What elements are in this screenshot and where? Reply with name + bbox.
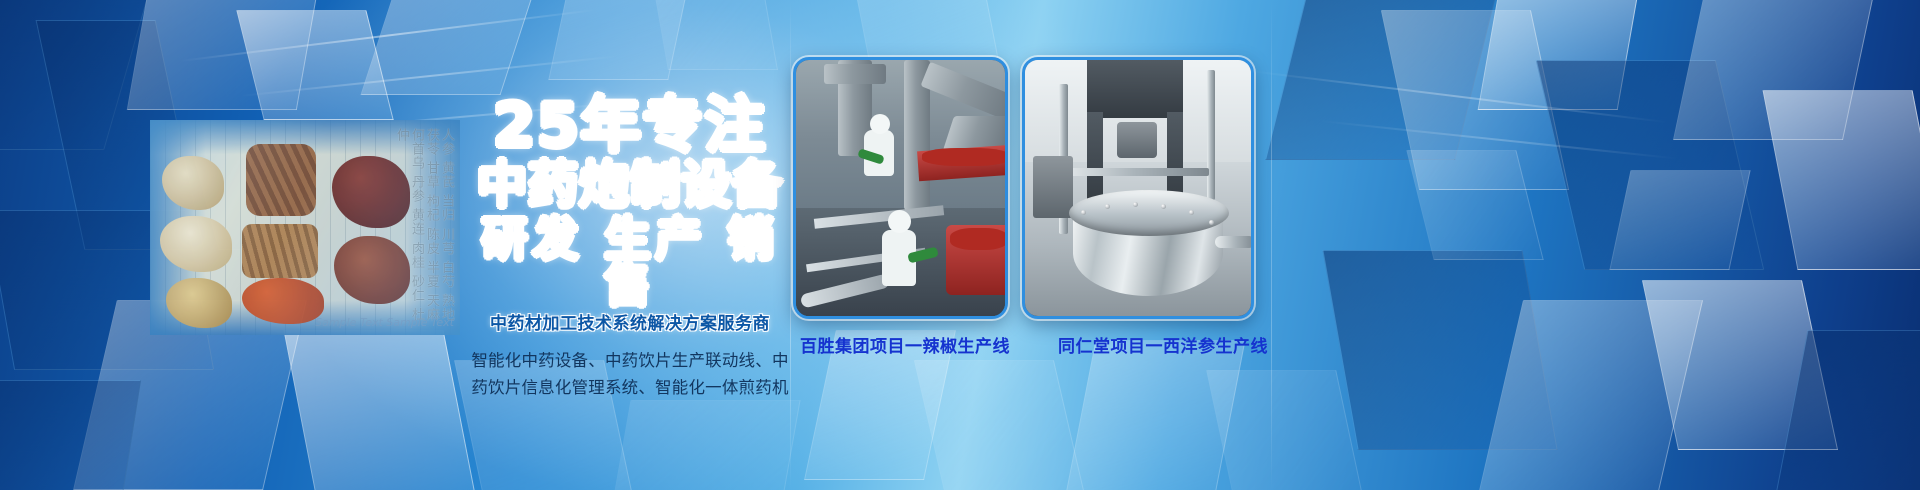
headline-line-3: 研发 生产 销售 [470,216,790,308]
chili-line-image [796,60,1005,316]
headline-line-1: 25年专注 [470,96,790,156]
chili-pile-1 [922,148,1008,166]
overhead-frame [1087,60,1183,118]
headline-description: 智能化中药设备、中药饮片生产联动线、中药饮片信息化管理系统、智能化一体煎药机 [470,347,790,401]
caption-chili-line: 百胜集团项目一辣椒生产线 [800,332,1010,357]
tank-lid [1069,190,1229,236]
chili-pile-2 [950,228,1008,250]
cross-pipe [1059,168,1209,176]
blue-overlay-veil [150,120,460,335]
hood-duct [824,64,886,84]
valve-block [1117,122,1157,158]
herb-collage-image: 人参 黄芪 当归 川芎 白芍 熟地 茯苓 甘草 枸杞 陈皮 半夏 天麻 何首乌 … [150,120,460,335]
caption-ginseng-line: 同仁堂项目一西洋参生产线 [1058,332,1268,357]
photo-chili-production-line [793,57,1008,319]
worker-2-head [888,210,911,233]
control-panel [1033,156,1073,218]
sample-watermark-text: Sample Text Sample Text [315,316,454,329]
promo-banner: 人参 黄芪 当归 川芎 白芍 熟地 茯苓 甘草 枸杞 陈皮 半夏 天麻 何首乌 … [0,0,1920,490]
upper-conveyor [920,62,1008,121]
headline-subtitle: 中药材加工技术系统解决方案服务商 [470,316,790,333]
headline-block: 25年专注 中药炮制设备 研发 生产 销售 中药材加工技术系统解决方案服务商 智… [470,96,790,401]
headline-line-2: 中药炮制设备 [470,160,790,210]
worker-1-head [870,114,890,134]
photo-ginseng-production-line [1022,57,1254,319]
riser-pipe-2 [1207,70,1215,200]
tank-outlet [1215,236,1254,248]
ginseng-line-image [1025,60,1251,316]
